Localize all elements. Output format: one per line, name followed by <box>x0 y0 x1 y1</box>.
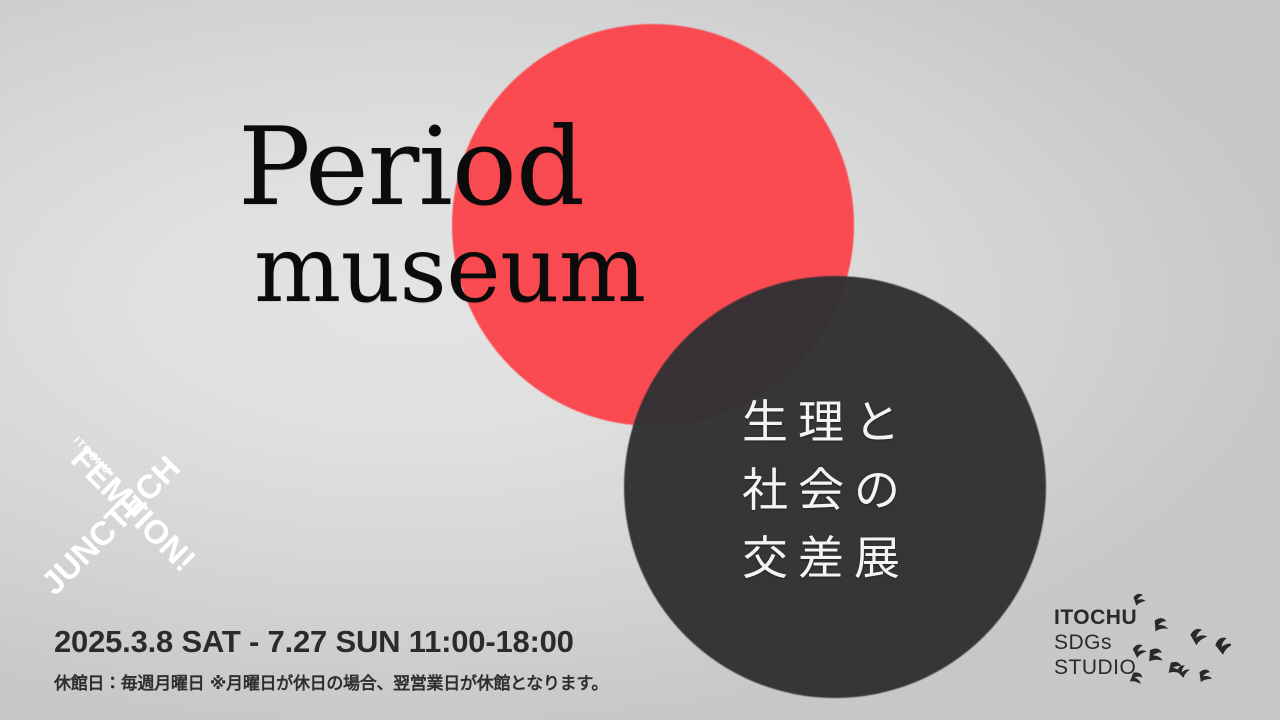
subtitle-line-2: 社会の <box>742 456 910 524</box>
itochu-sdgs-studio-logo: ITOCHU SDGs STUDIO <box>1054 588 1224 692</box>
flying-birds-icon <box>1116 588 1231 692</box>
exhibition-info: 2025.3.8 SAT - 7.27 SUN 11:00-18:00 休館日：… <box>54 624 608 694</box>
poster-title: Period museum <box>238 116 646 314</box>
subtitle-line-1: 生理と <box>742 388 910 456</box>
poster-canvas: Period museum 生理と 社会の 交差展 2025.3.8 SAT -… <box>0 0 1280 720</box>
closed-days-notice: 休館日：毎週月曜日 ※月曜日が休日の場合、翌営業日が休館となります。 <box>54 669 608 694</box>
title-line-period: Period <box>238 116 646 220</box>
title-line-museum: museum <box>254 226 646 314</box>
subtitle-line-3: 交差展 <box>742 524 910 592</box>
femtion-junctech-logo: ITOCHU FEMTION! JUNCTECH <box>56 440 204 588</box>
japanese-subtitle: 生理と 社会の 交差展 <box>742 388 910 592</box>
exhibition-date-range: 2025.3.8 SAT - 7.27 SUN 11:00-18:00 <box>54 624 608 660</box>
